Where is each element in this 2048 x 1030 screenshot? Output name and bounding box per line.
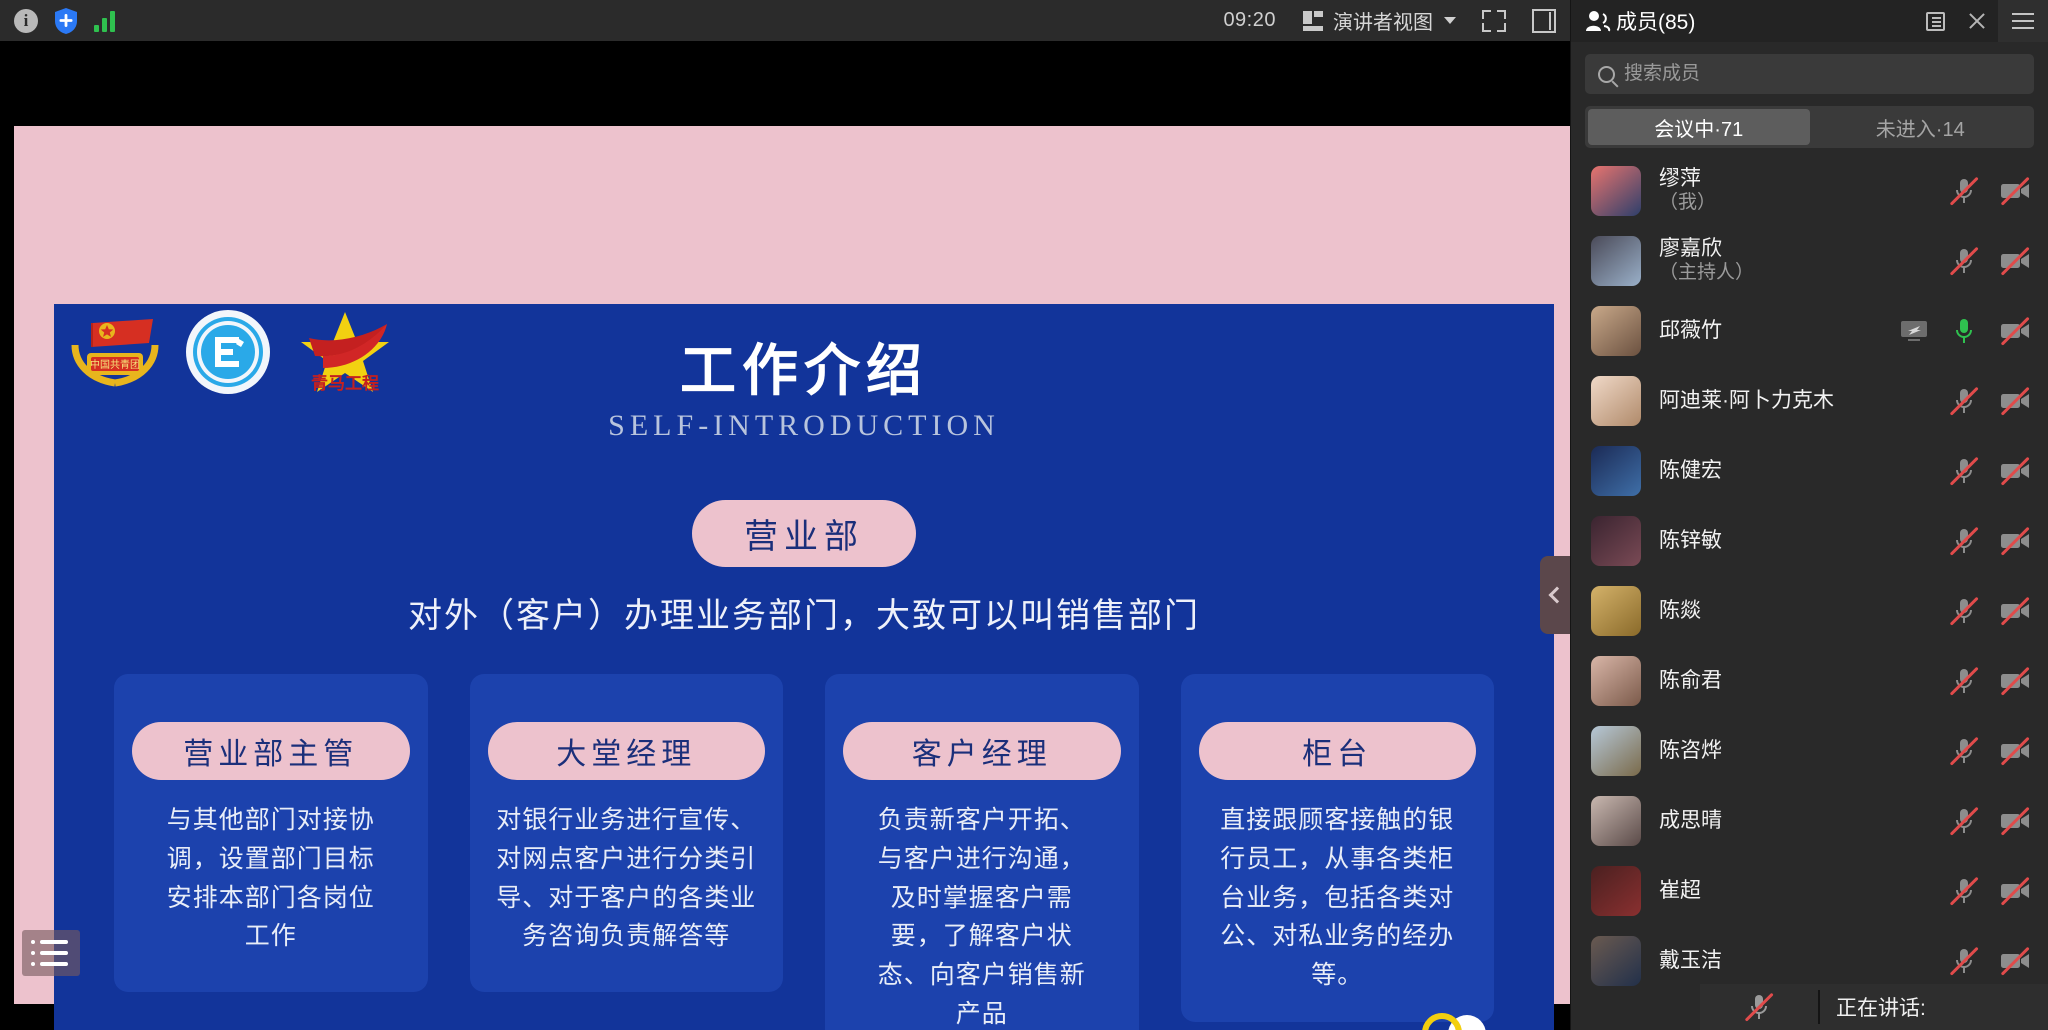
participant-row[interactable]: 阿迪莱·阿卜力克木	[1571, 366, 2048, 436]
close-icon	[1967, 11, 1987, 31]
network-signal-icon[interactable]	[94, 10, 115, 32]
avatar	[1591, 866, 1641, 916]
security-shield-icon[interactable]	[54, 7, 78, 35]
close-panel-button[interactable]	[1956, 0, 1998, 42]
avatar	[1591, 586, 1641, 636]
avatar	[1591, 516, 1641, 566]
slide-frame: 中国共青团	[14, 126, 1570, 1004]
participants-title-label: 成员(85)	[1616, 6, 1695, 36]
participant-status-icons	[1954, 387, 2030, 415]
slide-list-menu-icon[interactable]	[22, 930, 80, 976]
presenter-view-icon	[1302, 10, 1324, 32]
participant-status-icons	[1954, 947, 2030, 975]
panel-collapse-handle[interactable]	[1540, 556, 1570, 634]
mic-muted-icon[interactable]	[1954, 667, 1974, 695]
fullscreen-icon[interactable]	[1482, 10, 1506, 32]
chevron-down-icon	[1444, 17, 1456, 24]
role-card-title: 营业部主管	[132, 722, 410, 780]
participant-name: 缪萍	[1659, 167, 1716, 192]
avatar	[1591, 726, 1641, 776]
participants-title: 成员(85)	[1585, 6, 1695, 36]
black-letterbox-band	[0, 41, 1570, 126]
participant-name: 陈俞君	[1659, 669, 1722, 694]
participants-panel-header: 成员(85)	[1571, 0, 2048, 42]
participant-status-icons	[1900, 317, 2030, 345]
participant-name-block: 陈锌敏	[1659, 529, 1722, 554]
participant-name-block: 陈俞君	[1659, 669, 1722, 694]
people-icon	[1585, 10, 1611, 32]
camera-off-icon[interactable]	[2000, 531, 2030, 551]
role-card: 柜台 直接跟顾客接触的银行员工，从事各类柜台业务，包括各类对公、对私业务的经办等…	[1181, 674, 1495, 1022]
search-icon	[1598, 66, 1615, 83]
participant-name-block: 戴玉洁	[1659, 949, 1722, 974]
mic-muted-icon[interactable]	[1954, 457, 1974, 485]
participant-name-block: 陈健宏	[1659, 459, 1722, 484]
camera-off-icon[interactable]	[2000, 671, 2030, 691]
participant-status-icons	[1954, 737, 2030, 765]
participant-row[interactable]: 陈俞君	[1571, 646, 2048, 716]
participant-name: 邱薇竹	[1659, 319, 1722, 344]
tab-not-joined[interactable]: 未进入·14	[1810, 109, 2032, 145]
presentation-stage: i 09:20	[0, 0, 1570, 1030]
participant-name: 戴玉洁	[1659, 949, 1722, 974]
participant-status-icons	[1954, 597, 2030, 625]
participant-name: 崔超	[1659, 879, 1701, 904]
participant-row[interactable]: 陈健宏	[1571, 436, 2048, 506]
mic-muted-icon[interactable]	[1954, 947, 1974, 975]
popout-window-button[interactable]	[1914, 0, 1956, 42]
avatar	[1591, 166, 1641, 216]
camera-off-icon[interactable]	[2000, 811, 2030, 831]
camera-off-icon[interactable]	[2000, 251, 2030, 271]
role-card: 大堂经理 对银行业务进行宣传、对网点客户进行分类引导、对于客户的各类业务咨询负责…	[470, 674, 784, 992]
participants-tabs: 会议中·71 未进入·14	[1585, 106, 2034, 148]
avatar	[1591, 306, 1641, 356]
mic-muted-icon[interactable]	[1954, 877, 1974, 905]
panel-menu-button[interactable]	[1998, 0, 2048, 42]
mic-muted-icon[interactable]	[1954, 387, 1974, 415]
avatar	[1591, 446, 1641, 496]
participant-status-icons	[1954, 877, 2030, 905]
participants-panel: 成员(85) 会议中·71 未进入·14 缪萍（我）廖嘉欣（主持人）	[1570, 0, 2048, 1030]
participant-row[interactable]: 崔超	[1571, 856, 2048, 926]
app-root: i 09:20	[0, 0, 2048, 1030]
popout-window-icon	[1926, 12, 1945, 31]
role-card: 营业部主管 与其他部门对接协调，设置部门目标安排本部门各岗位工作	[114, 674, 428, 992]
mic-muted-icon[interactable]	[1954, 247, 1974, 275]
avatar	[1591, 796, 1641, 846]
participant-role: （主持人）	[1659, 262, 1754, 284]
participant-row[interactable]: 陈咨烨	[1571, 716, 2048, 786]
participant-status-icons	[1954, 527, 2030, 555]
mic-muted-icon[interactable]	[1954, 807, 1974, 835]
participant-row[interactable]: 陈锌敏	[1571, 506, 2048, 576]
avatar	[1591, 236, 1641, 286]
screen-share-icon[interactable]	[1900, 320, 1928, 342]
participant-name-block: 陈燚	[1659, 599, 1701, 624]
camera-off-icon[interactable]	[2000, 601, 2030, 621]
camera-off-icon[interactable]	[2000, 741, 2030, 761]
ring-overlap-decoration-icon	[1422, 1013, 1488, 1030]
role-card-title: 柜台	[1199, 722, 1477, 780]
participant-name: 陈锌敏	[1659, 529, 1722, 554]
department-pill: 营业部	[692, 500, 916, 567]
mic-muted-icon[interactable]	[1954, 597, 1974, 625]
camera-off-icon[interactable]	[2000, 951, 2030, 971]
participant-name-block: 成思晴	[1659, 809, 1722, 834]
search-input[interactable]	[1624, 63, 2021, 85]
mic-muted-icon[interactable]	[1954, 177, 1974, 205]
participant-name-block: 阿迪莱·阿卜力克木	[1659, 389, 1834, 414]
participants-list[interactable]: 缪萍（我）廖嘉欣（主持人）邱薇竹阿迪莱·阿卜力克木陈健宏陈锌敏陈燚陈俞君陈咨烨成…	[1571, 156, 2048, 1030]
participant-name-block: 邱薇竹	[1659, 319, 1722, 344]
speaking-status-label: 正在讲话:	[1820, 992, 1926, 1022]
toolbar-left-group: i	[0, 7, 115, 35]
participant-status-icons	[1954, 807, 2030, 835]
participant-name: 阿迪莱·阿卜力克木	[1659, 389, 1834, 414]
role-card-body: 直接跟顾客接触的银行员工，从事各类柜台业务，包括各类对公、对私业务的经办等。	[1199, 802, 1477, 996]
role-card-row: 营业部主管 与其他部门对接协调，设置部门目标安排本部门各岗位工作 大堂经理 对银…	[114, 674, 1494, 1030]
avatar	[1591, 656, 1641, 706]
participant-role: （我）	[1659, 192, 1716, 214]
participant-row[interactable]: 陈燚	[1571, 576, 2048, 646]
avatar	[1591, 376, 1641, 426]
participant-row[interactable]: 成思晴	[1571, 786, 2048, 856]
view-mode-dropdown[interactable]: 演讲者视图	[1302, 6, 1456, 35]
participant-row[interactable]: 邱薇竹	[1571, 296, 2048, 366]
view-mode-label: 演讲者视图	[1333, 6, 1433, 35]
top-toolbar: i 09:20	[0, 0, 1570, 41]
participant-name: 陈咨烨	[1659, 739, 1722, 764]
mic-muted-icon	[1700, 993, 1818, 1021]
tab-in-meeting[interactable]: 会议中·71	[1588, 109, 1810, 145]
department-description: 对外（客户）办理业务部门，大致可以叫销售部门	[54, 588, 1554, 637]
role-card-body: 与其他部门对接协调，设置部门目标安排本部门各岗位工作	[132, 802, 410, 957]
role-card-title: 客户经理	[843, 722, 1121, 780]
chevron-left-icon	[1549, 587, 1566, 604]
toolbar-right-group: 09:20 演讲者视图	[1223, 6, 1570, 35]
role-card: 客户经理 负责新客户开拓、与客户进行沟通，及时掌握客户需要，了解客户状态、向客户…	[825, 674, 1139, 1030]
participant-status-icons	[1954, 247, 2030, 275]
participant-name-block: 陈咨烨	[1659, 739, 1722, 764]
role-card-body: 对银行业务进行宣传、对网点客户进行分类引导、对于客户的各类业务咨询负责解答等	[488, 802, 766, 957]
participant-name: 陈健宏	[1659, 459, 1722, 484]
participant-status-icons	[1954, 667, 2030, 695]
mic-muted-icon[interactable]	[1954, 737, 1974, 765]
role-card-body: 负责新客户开拓、与客户进行沟通，及时掌握客户需要，了解客户状态、向客户销售新产品	[843, 802, 1121, 1030]
camera-off-icon[interactable]	[2000, 461, 2030, 481]
participant-name: 成思晴	[1659, 809, 1722, 834]
mic-muted-icon[interactable]	[1954, 527, 1974, 555]
avatar	[1591, 936, 1641, 986]
speaking-status-strip: 正在讲话:	[1700, 984, 2048, 1030]
participant-status-icons	[1954, 177, 2030, 205]
slide-subtitle: SELF-INTRODUCTION	[54, 409, 1554, 443]
camera-off-icon[interactable]	[2000, 321, 2030, 341]
role-card-title: 大堂经理	[488, 722, 766, 780]
info-icon[interactable]: i	[14, 9, 38, 33]
participant-name: 陈燚	[1659, 599, 1701, 624]
search-members-field[interactable]	[1585, 54, 2034, 94]
panel-header-actions	[1914, 0, 2048, 42]
participant-name-block: 缪萍（我）	[1659, 167, 1716, 214]
split-layout-icon[interactable]	[1532, 9, 1556, 33]
hamburger-menu-icon	[2012, 13, 2034, 15]
participant-row[interactable]: 廖嘉欣（主持人）	[1571, 226, 2048, 296]
camera-off-icon[interactable]	[2000, 181, 2030, 201]
participant-name: 廖嘉欣	[1659, 237, 1754, 262]
participant-name-block: 崔超	[1659, 879, 1701, 904]
participant-row[interactable]: 缪萍（我）	[1571, 156, 2048, 226]
mic-on-icon[interactable]	[1954, 317, 1974, 345]
participant-name-block: 廖嘉欣（主持人）	[1659, 237, 1754, 284]
camera-off-icon[interactable]	[2000, 881, 2030, 901]
participant-status-icons	[1954, 457, 2030, 485]
slide-canvas: 中国共青团	[54, 304, 1554, 1030]
camera-off-icon[interactable]	[2000, 391, 2030, 411]
slide-title: 工作介绍	[54, 326, 1554, 407]
clock-label: 09:20	[1223, 9, 1276, 32]
